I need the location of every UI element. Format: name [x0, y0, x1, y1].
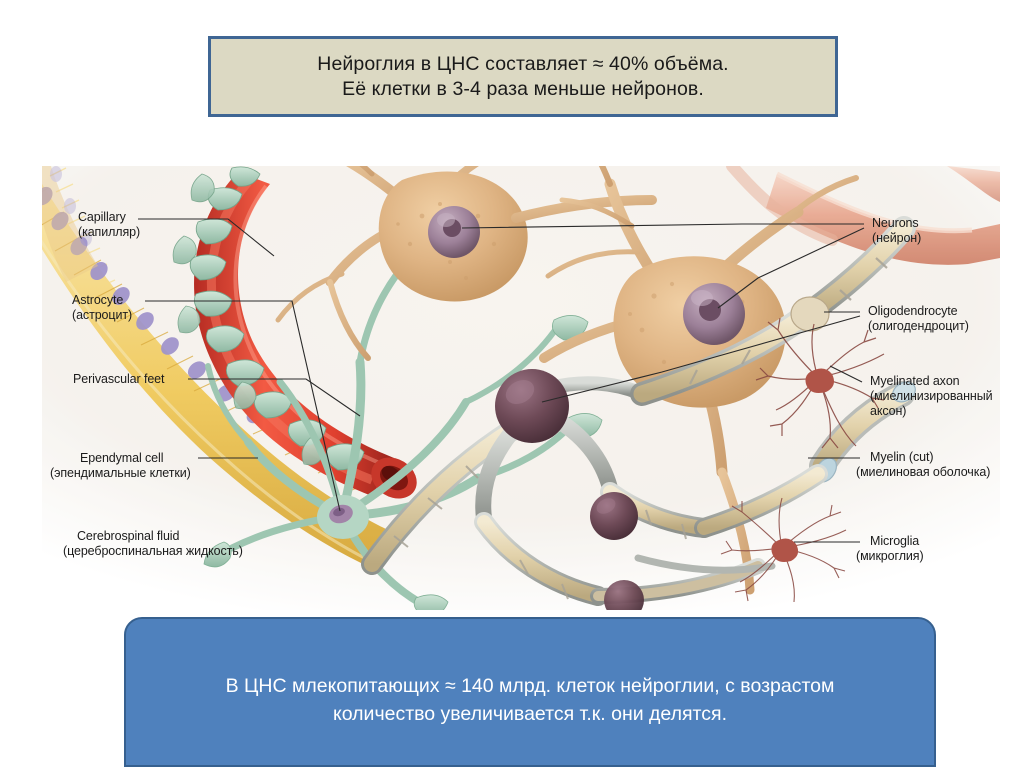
neuroglia-diagram: Capillary (капилляр) Astrocyte (астроцит… — [42, 166, 1000, 610]
label-myelin-cut-en: Myelin (cut) — [870, 450, 933, 464]
label-myelinated-axon: Myelinated axon (миелинизированный аксон… — [870, 374, 992, 418]
label-myelin-cut-ru: (миелиновая оболочка) — [856, 465, 990, 480]
label-neurons: Neurons (нейрон) — [872, 216, 921, 246]
label-ependymal-cell-en: Ependymal cell — [80, 451, 163, 465]
label-myelinated-axon-ru2: аксон) — [870, 404, 992, 419]
label-oligodendrocyte-en: Oligodendrocyte — [868, 304, 958, 318]
label-cerebrospinal-fluid-en: Cerebrospinal fluid — [77, 529, 179, 543]
label-perivascular-feet-en: Perivascular feet — [73, 372, 164, 386]
label-myelinated-axon-en: Myelinated axon — [870, 374, 960, 388]
label-ependymal-cell-ru: (эпендимальные клетки) — [50, 466, 191, 481]
top-callout-box: Нейроглия в ЦНС составляет ≈ 40% объёма.… — [208, 36, 838, 117]
label-ependymal-cell: Ependymal cell (эпендимальные клетки) — [80, 451, 191, 481]
bottom-callout-box: В ЦНС млекопитающих ≈ 140 млрд. клеток н… — [124, 617, 936, 767]
label-microglia: Microglia (микроглия) — [870, 534, 924, 564]
label-myelin-cut: Myelin (cut) (миелиновая оболочка) — [870, 450, 990, 480]
label-capillary-ru: (капилляр) — [78, 225, 140, 240]
label-astrocyte-en: Astrocyte — [72, 293, 123, 307]
label-microglia-en: Microglia — [870, 534, 919, 548]
label-oligodendrocyte: Oligodendrocyte (олигодендроцит) — [868, 304, 969, 334]
label-capillary: Capillary (капилляр) — [78, 210, 140, 240]
label-cerebrospinal-fluid-ru: (цереброспинальная жидкость) — [63, 544, 243, 559]
label-cerebrospinal-fluid: Cerebrospinal fluid (цереброспинальная ж… — [77, 529, 243, 559]
top-callout-line-1: Нейроглия в ЦНС составляет ≈ 40% объёма. — [317, 52, 728, 77]
label-neurons-ru: (нейрон) — [872, 231, 921, 246]
top-callout-line-2: Её клетки в 3-4 раза меньше нейронов. — [342, 77, 704, 102]
bottom-callout-line-2: количество увеличивается т.к. они делятс… — [333, 700, 727, 728]
label-astrocyte-ru: (астроцит) — [72, 308, 132, 323]
label-astrocyte: Astrocyte (астроцит) — [72, 293, 132, 323]
label-myelinated-axon-ru: (миелинизированный — [870, 389, 992, 404]
bottom-callout-line-1: В ЦНС млекопитающих ≈ 140 млрд. клеток н… — [226, 672, 835, 700]
oligodendrocyte-b — [590, 492, 638, 540]
label-neurons-en: Neurons — [872, 216, 919, 230]
label-oligodendrocyte-ru: (олигодендроцит) — [868, 319, 969, 334]
label-perivascular-feet: Perivascular feet — [73, 372, 164, 387]
label-capillary-en: Capillary — [78, 210, 126, 224]
label-microglia-ru: (микроглия) — [856, 549, 924, 564]
